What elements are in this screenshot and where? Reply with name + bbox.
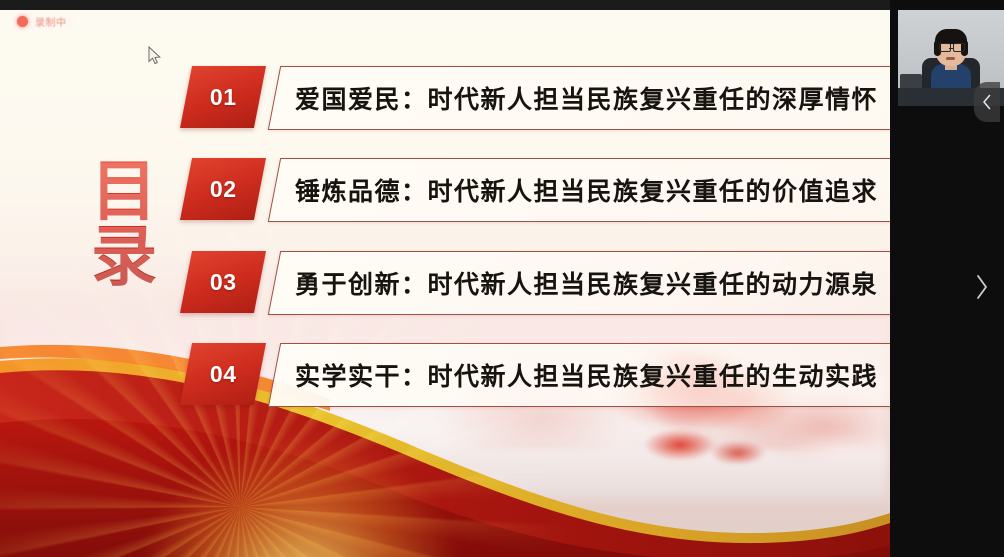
recording-label: 录制中 — [35, 14, 67, 29]
toc-number: 03 — [210, 269, 237, 296]
chevron-left-icon — [982, 94, 992, 110]
next-slide-button[interactable] — [962, 262, 1002, 312]
toc-text-bar[interactable]: 勇于创新：时代新人担当民族复兴重任的动力源泉 — [268, 251, 890, 315]
video-person-glasses-bridge — [949, 48, 953, 49]
record-dot-icon — [17, 16, 28, 27]
video-person-mouth — [946, 57, 955, 60]
toc-item-label: 实学实干：时代新人担当民族复兴重任的生动实践 — [295, 357, 878, 393]
toc-text-bar[interactable]: 爱国爱民：时代新人担当民族复兴重任的深厚情怀 — [268, 66, 890, 130]
chevron-right-icon — [974, 273, 990, 301]
toc-item-02[interactable]: 02 锤炼品德：时代新人担当民族复兴重任的价值追求 — [186, 158, 890, 222]
toc-number: 04 — [210, 361, 237, 388]
page-title: 目 录 — [88, 160, 160, 289]
toc-number-badge: 01 — [180, 66, 266, 128]
screen-root: 目 录 01 爱国爱民：时代新人担当民族复兴重任的深厚情怀 02 锤炼品德：时代… — [0, 0, 1004, 557]
presentation-slide[interactable]: 目 录 01 爱国爱民：时代新人担当民族复兴重任的深厚情怀 02 锤炼品德：时代… — [0, 0, 890, 557]
page-title-char-2: 录 — [91, 225, 157, 288]
toc-item-label: 勇于创新：时代新人担当民族复兴重任的动力源泉 — [295, 265, 878, 301]
window-top-strip — [0, 0, 890, 10]
toc-number: 02 — [210, 176, 237, 203]
video-person-glasses-right — [953, 43, 965, 52]
toc-text-bar[interactable]: 实学实干：时代新人担当民族复兴重任的生动实践 — [268, 343, 890, 407]
toc-item-03[interactable]: 03 勇于创新：时代新人担当民族复兴重任的动力源泉 — [186, 251, 890, 315]
sunburst-glow — [140, 437, 460, 557]
toc-item-04[interactable]: 04 实学实干：时代新人担当民族复兴重任的生动实践 — [186, 343, 890, 407]
right-rail — [890, 0, 1004, 557]
toc-number-badge: 02 — [180, 158, 266, 220]
toc-number-badge: 03 — [180, 251, 266, 313]
toc-item-label: 爱国爱民：时代新人担当民族复兴重任的深厚情怀 — [295, 80, 878, 116]
toc-number-badge: 04 — [180, 343, 266, 405]
toc-item-label: 锤炼品德：时代新人担当民族复兴重任的价值追求 — [295, 172, 878, 208]
toc-item-01[interactable]: 01 爱国爱民：时代新人担当民族复兴重任的深厚情怀 — [186, 66, 890, 130]
toc-text-bar[interactable]: 锤炼品德：时代新人担当民族复兴重任的价值追求 — [268, 158, 890, 222]
recording-indicator[interactable]: 录制中 — [12, 12, 76, 31]
toc-number: 01 — [210, 84, 237, 111]
page-title-char-1: 目 — [91, 160, 157, 223]
video-person-hair — [935, 29, 967, 44]
collapse-panel-button[interactable] — [974, 82, 1000, 122]
